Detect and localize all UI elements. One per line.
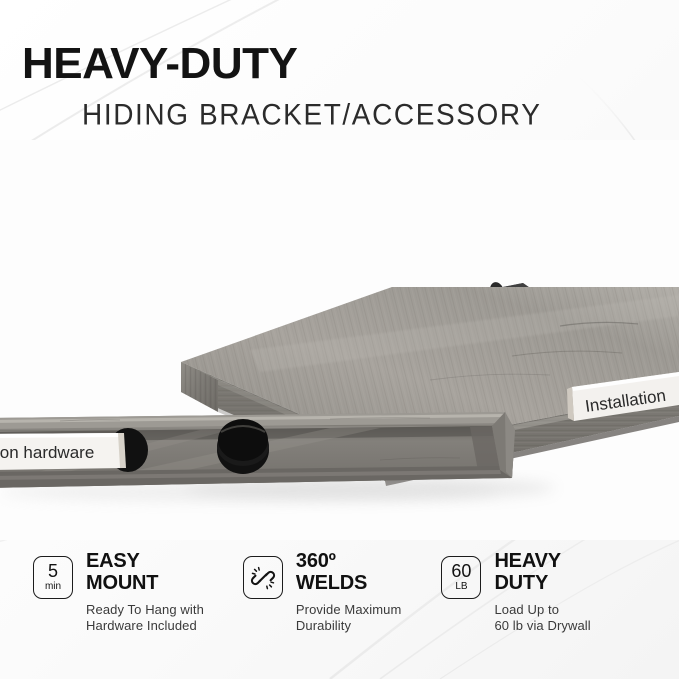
installation-label-bottom-text: ion hardware [0,443,94,462]
page-subtitle: HIDING BRACKET/ACCESSORY [82,99,542,131]
feature-desc-line1: Load Up to [494,602,590,618]
feature-heading-line2: DUTY [494,572,590,594]
product-photo-stage: Installation [0,140,679,540]
feature-heading-line1: EASY [86,550,204,572]
feature-desc-line1: Ready To Hang with [86,602,204,618]
feature-desc-line2: Durability [296,618,402,634]
weight-badge-value: 60 [451,563,471,580]
feature-desc-line2: 60 lb via Drywall [494,618,590,634]
weight-badge: 60 LB [441,556,481,599]
feature-heavy-duty-text: HEAVY DUTY Load Up to 60 lb via Drywall [494,540,590,634]
underside-photo-group: ion hardware [0,412,515,501]
chain-weld-icon [243,556,283,599]
feature-strip: 5 min EASY MOUNT Ready To Hang with Hard… [0,540,679,679]
feature-heading-line1: HEAVY [494,550,590,572]
timer-badge: 5 min [33,556,73,599]
feature-360-welds-text: 360º WELDS Provide Maximum Durability [296,540,402,634]
feature-heavy-duty: 60 LB HEAVY DUTY Load Up to 60 lb via Dr… [441,540,590,634]
feature-easy-mount: 5 min EASY MOUNT Ready To Hang with Hard… [33,540,204,634]
feature-heading-line2: MOUNT [86,572,204,594]
weight-badge-unit: LB [455,581,467,593]
feature-heading-line1: 360º [296,550,402,572]
feature-heading-line2: WELDS [296,572,402,594]
timer-badge-unit: min [45,581,61,593]
header: HEAVY-DUTY HIDING BRACKET/ACCESSORY [0,0,679,140]
feature-desc-line1: Provide Maximum [296,602,402,618]
feature-desc-line2: Hardware Included [86,618,204,634]
timer-badge-value: 5 [48,563,58,580]
page-title: HEAVY-DUTY [22,42,297,86]
feature-360-welds: 360º WELDS Provide Maximum Durability [243,540,402,634]
installation-label-bottom: ion hardware [0,428,148,472]
feature-easy-mount-text: EASY MOUNT Ready To Hang with Hardware I… [86,540,204,634]
product-marketing-image: HEAVY-DUTY HIDING BRACKET/ACCESSORY [0,0,679,679]
